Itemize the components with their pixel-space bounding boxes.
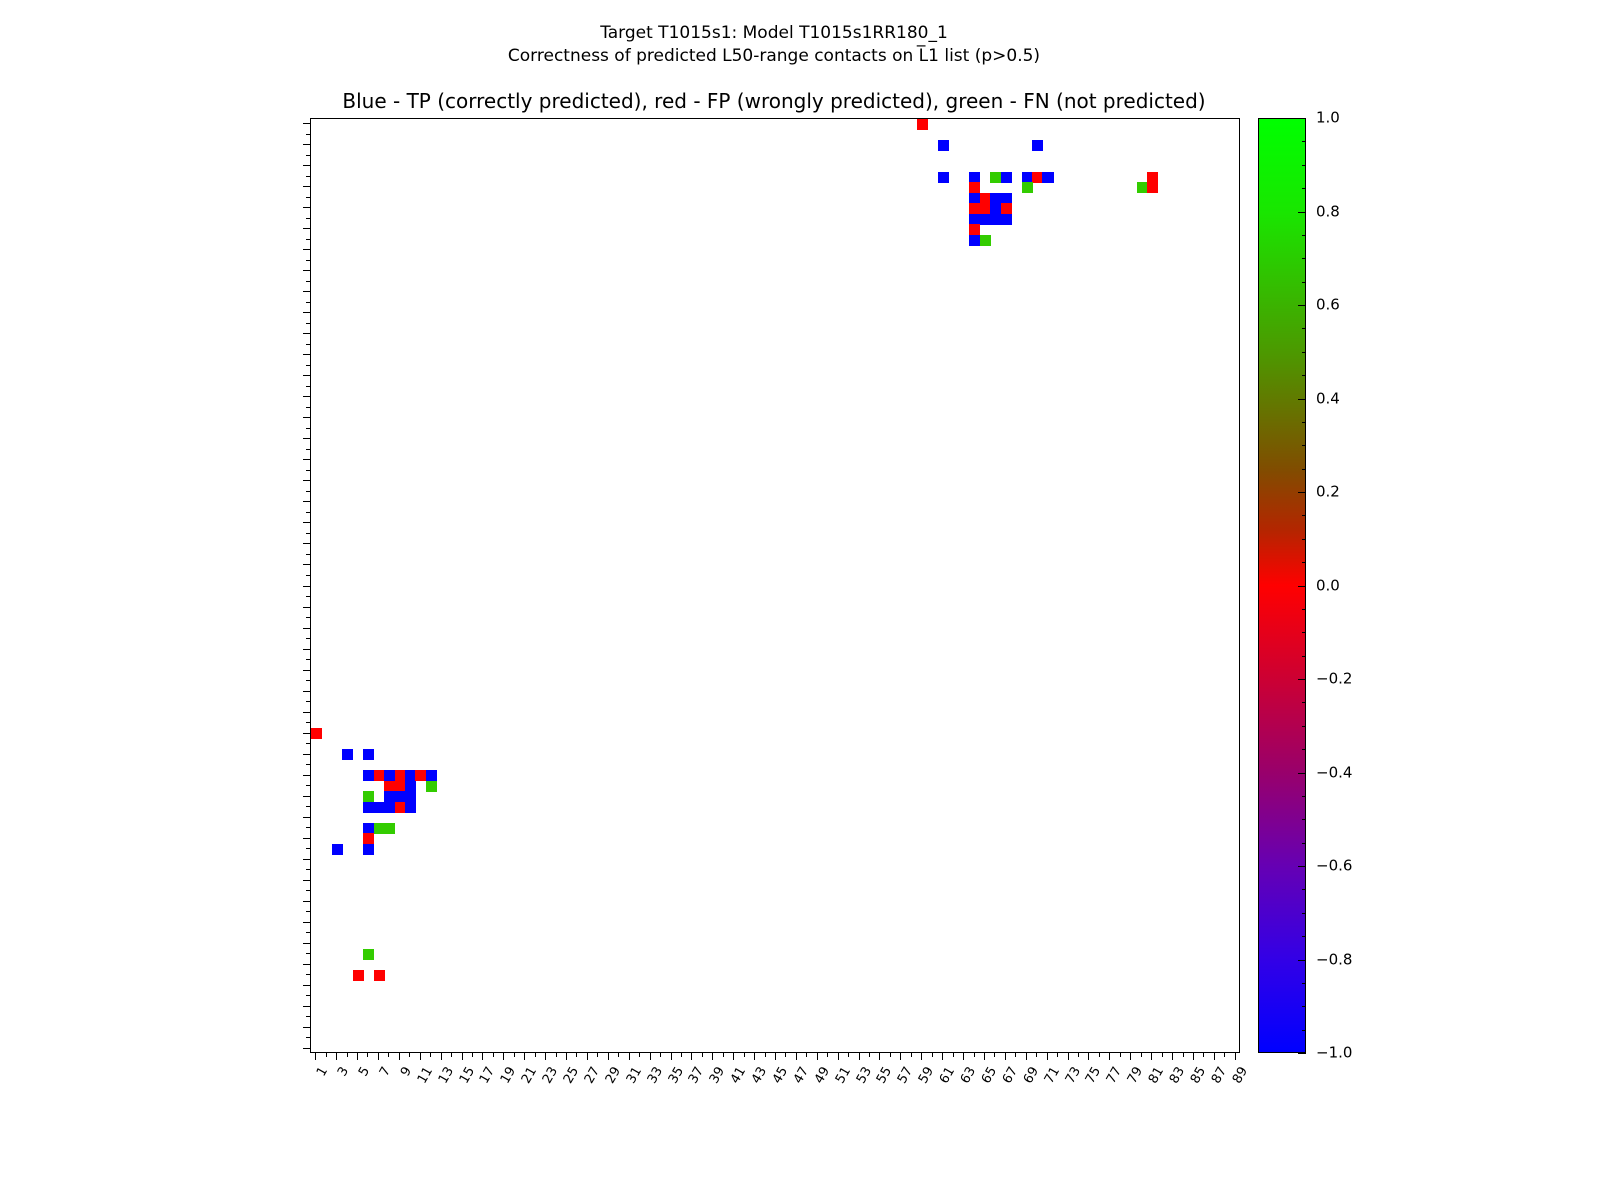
colorbar-minor-tick [1302,609,1306,610]
x-tick-label: 53 [854,1065,874,1086]
x-tick-label: 51 [833,1065,853,1086]
colorbar-tick-label: −1.0 [1316,1046,1352,1061]
x-tick-label: 47 [792,1065,812,1086]
contact-cell-fp [980,193,991,204]
contact-cell-tp [342,749,353,760]
y-tick-mark [303,186,310,187]
colorbar-minor-tick [1302,165,1306,166]
x-tick-mark [514,1053,515,1057]
x-tick-label: 3 [336,1065,351,1079]
x-tick-mark [1162,1053,1163,1057]
x-tick-mark [399,1053,400,1060]
x-tick-mark [388,1053,389,1057]
y-tick-mark [303,733,310,734]
x-tick-mark [1078,1053,1079,1057]
x-tick-mark [1235,1053,1236,1060]
contact-cell-fn [1022,182,1033,193]
y-tick-mark [303,691,310,692]
y-tick-mark [303,859,310,860]
x-tick-mark [806,1053,807,1057]
x-tick-mark [932,1053,933,1057]
figure-title-line-2: Correctness of predicted L50-range conta… [0,45,1548,68]
contact-cell-tp [426,770,437,781]
contact-cell-fp [374,770,385,781]
colorbar-tick-mark [1298,118,1306,119]
contact-cell-fp [384,781,395,792]
contact-cell-fn [990,172,1001,183]
colorbar-minor-tick [1302,515,1306,516]
y-tick-mark [303,796,310,797]
contact-cell-fp [395,802,406,813]
x-tick-label: 33 [645,1065,665,1086]
colorbar-minor-tick [1302,1006,1306,1007]
colorbar-minor-tick [1302,656,1306,657]
x-tick-mark [650,1053,651,1060]
y-tick-mark [303,964,310,965]
contact-cell-tp [969,193,980,204]
y-tick-mark [303,354,310,355]
y-tick-mark [303,417,310,418]
y-tick-mark [303,1048,310,1049]
x-tick-label: 65 [980,1065,1000,1086]
x-tick-mark [681,1053,682,1057]
x-axis: 1357911131517192123252729313335373941434… [310,1053,1240,1193]
colorbar-minor-tick [1302,889,1306,890]
contact-cell-tp [363,844,374,855]
contact-cell-tp [1001,214,1012,225]
x-tick-label: 49 [813,1065,833,1086]
x-tick-label: 57 [896,1065,916,1086]
contact-cell-tp [1001,172,1012,183]
contact-cell-fp [969,182,980,193]
x-tick-mark [869,1053,870,1057]
colorbar-minor-tick [1302,632,1306,633]
colorbar-minor-tick [1302,235,1306,236]
x-tick-label: 89 [1230,1065,1250,1086]
x-tick-label: 13 [436,1065,456,1086]
x-tick-mark [1120,1053,1121,1057]
x-tick-mark [994,1053,995,1057]
contact-cell-fn [363,791,374,802]
colorbar-minor-tick [1302,539,1306,540]
x-tick-mark [775,1053,776,1060]
y-tick-mark [303,165,310,166]
y-tick-mark [303,543,310,544]
x-tick-mark [1203,1053,1204,1057]
y-tick-mark [303,943,310,944]
x-tick-label: 73 [1063,1065,1083,1086]
x-tick-label: 79 [1126,1065,1146,1086]
x-tick-label: 9 [399,1065,414,1079]
y-tick-mark [303,817,310,818]
colorbar-minor-tick [1302,445,1306,446]
colorbar-tick-mark [1298,866,1306,867]
x-tick-label: 45 [771,1065,791,1086]
contact-cell-fp [395,781,406,792]
contact-cell-fp [395,770,406,781]
x-tick-mark [671,1053,672,1060]
colorbar-minor-tick [1302,819,1306,820]
colorbar-tick-mark [1298,1053,1306,1054]
x-tick-mark [639,1053,640,1057]
x-tick-mark [462,1053,463,1060]
contact-cell-fn [384,823,395,834]
x-tick-label: 55 [875,1065,895,1086]
contact-cell-tp [1001,193,1012,204]
contact-cell-tp [969,172,980,183]
y-tick-mark [303,375,310,376]
contact-cell-fn [374,823,385,834]
contact-cell-tp [990,214,1001,225]
y-axis: 1357911131517192123252729313335373941434… [0,118,310,1053]
x-tick-mark [1141,1053,1142,1057]
colorbar-minor-tick [1302,843,1306,844]
contact-cell-tp [405,770,416,781]
contact-cell-tp [990,203,1001,214]
x-tick-label: 81 [1147,1065,1167,1086]
contact-cell-tp [969,235,980,246]
x-tick-mark [503,1053,504,1060]
colorbar-minor-tick [1302,1030,1306,1031]
x-tick-label: 5 [357,1065,372,1079]
contact-cell-fp [1147,172,1158,183]
contact-cell-tp [405,802,416,813]
figure-title-line-1: Target T1015s1: Model T1015s1RR180_1 [0,22,1548,45]
y-tick-mark [303,1006,310,1007]
y-tick-mark [303,291,310,292]
x-tick-mark [493,1053,494,1057]
y-tick-mark [303,207,310,208]
y-tick-mark [303,607,310,608]
contact-cell-fp [363,833,374,844]
x-tick-label: 59 [917,1065,937,1086]
x-tick-mark [378,1053,379,1060]
colorbar-tick-label: 1.0 [1316,111,1340,126]
y-tick-mark [303,586,310,587]
x-tick-mark [336,1053,337,1060]
contact-cell-fp [980,203,991,214]
x-tick-mark [1183,1053,1184,1057]
x-tick-mark [744,1053,745,1057]
contact-cell-tp [1022,172,1033,183]
y-tick-mark [303,312,310,313]
colorbar-minor-tick [1302,258,1306,259]
contact-cell-fp [374,970,385,981]
colorbar-minor-tick [1302,422,1306,423]
x-tick-mark [576,1053,577,1057]
y-tick-mark [303,144,310,145]
x-tick-mark [921,1053,922,1060]
contact-cell-tp [363,802,374,813]
colorbar-tick-mark [1298,960,1306,961]
x-tick-label: 41 [729,1065,749,1086]
contact-cell-fp [311,728,322,739]
x-tick-mark [1130,1053,1131,1060]
contact-cell-fp [1147,182,1158,193]
y-tick-mark [303,333,310,334]
x-tick-mark [1057,1053,1058,1057]
x-tick-mark [1088,1053,1089,1060]
colorbar-tick-label: 0.4 [1316,391,1340,406]
y-tick-mark [303,838,310,839]
x-tick-label: 61 [938,1065,958,1086]
colorbar-tick-mark [1298,492,1306,493]
x-tick-mark [1036,1053,1037,1057]
x-tick-mark [1015,1053,1016,1057]
contact-cell-tp [395,791,406,802]
x-tick-label: 29 [604,1065,624,1086]
contact-cell-tp [1042,172,1053,183]
x-tick-mark [472,1053,473,1057]
x-tick-mark [524,1053,525,1060]
colorbar-minor-tick [1302,282,1306,283]
x-tick-mark [942,1053,943,1060]
colorbar-tick-label: 0.6 [1316,298,1340,313]
contact-cell-fp [969,224,980,235]
y-tick-mark [303,459,310,460]
y-tick-mark [303,228,310,229]
contact-cell-tp [384,791,395,802]
contact-cell-tp [990,193,1001,204]
colorbar-minor-tick [1302,936,1306,937]
y-tick-mark [303,522,310,523]
contact-cell-tp [980,214,991,225]
x-tick-mark [1193,1053,1194,1060]
y-tick-mark [303,628,310,629]
x-tick-mark [420,1053,421,1060]
x-tick-label: 83 [1168,1065,1188,1086]
colorbar-tick-label: 0.2 [1316,485,1340,500]
contact-cell-tp [405,791,416,802]
x-tick-mark [315,1053,316,1060]
colorbar-tick-label: 0.0 [1316,578,1340,593]
x-tick-mark [1026,1053,1027,1060]
contact-cell-tp [969,214,980,225]
contact-cell-fp [415,770,426,781]
x-tick-mark [900,1053,901,1060]
x-tick-label: 77 [1105,1065,1125,1086]
x-tick-label: 85 [1189,1065,1209,1086]
colorbar-minor-tick [1302,141,1306,142]
x-tick-mark [441,1053,442,1060]
y-tick-mark [303,396,310,397]
colorbar-minor-tick [1302,983,1306,984]
y-tick-mark [303,480,310,481]
y-tick-mark [303,880,310,881]
contact-cell-tp [405,781,416,792]
contact-cell-tp [938,172,949,183]
x-tick-mark [754,1053,755,1060]
y-tick-mark [303,901,310,902]
y-tick-mark [303,754,310,755]
x-tick-label: 23 [541,1065,561,1086]
y-tick-mark [303,564,310,565]
x-tick-mark [451,1053,452,1057]
colorbar-tick-label: 0.8 [1316,204,1340,219]
y-tick-mark [303,249,310,250]
contact-map-plot[interactable] [310,118,1240,1053]
colorbar-minor-tick [1302,328,1306,329]
x-tick-mark [974,1053,975,1057]
x-tick-mark [1109,1053,1110,1060]
contact-cell-tp [384,770,395,781]
contact-cell-tp [363,823,374,834]
x-tick-label: 25 [562,1065,582,1086]
contact-cell-fp [353,970,364,981]
x-tick-mark [1047,1053,1048,1060]
y-tick-mark [303,501,310,502]
colorbar-minor-tick [1302,375,1306,376]
colorbar-tick-label: −0.6 [1316,859,1352,874]
x-tick-mark [566,1053,567,1060]
contact-cell-tp [938,140,949,151]
x-tick-mark [712,1053,713,1060]
y-tick-mark [303,985,310,986]
x-tick-mark [587,1053,588,1060]
x-tick-mark [953,1053,954,1057]
contact-cell-tp [363,770,374,781]
x-tick-mark [1005,1053,1006,1060]
contact-cell-tp [332,844,343,855]
x-tick-mark [1151,1053,1152,1060]
x-tick-label: 87 [1210,1065,1230,1086]
colorbar-tick-mark [1298,399,1306,400]
colorbar[interactable]: 1.00.80.60.40.20.0−0.2−0.4−0.6−0.8−1.0 [1258,118,1306,1053]
x-tick-label: 35 [666,1065,686,1086]
y-tick-mark [303,270,310,271]
colorbar-minor-tick [1302,749,1306,750]
x-tick-label: 69 [1022,1065,1042,1086]
x-tick-mark [838,1053,839,1060]
colorbar-minor-tick [1302,796,1306,797]
colorbar-minor-tick [1302,702,1306,703]
contact-cell-fn [980,235,991,246]
x-tick-mark [879,1053,880,1060]
x-tick-label: 39 [708,1065,728,1086]
x-tick-mark [597,1053,598,1057]
x-tick-label: 1 [315,1065,330,1079]
contact-cell-fp [917,119,928,130]
x-tick-mark [535,1053,536,1057]
x-tick-mark [347,1053,348,1057]
x-tick-mark [785,1053,786,1057]
colorbar-tick-label: −0.8 [1316,952,1352,967]
contact-cell-fn [363,949,374,960]
x-tick-mark [326,1053,327,1057]
y-tick-mark [303,775,310,776]
colorbar-minor-tick [1302,562,1306,563]
y-tick-mark [303,123,310,124]
x-tick-mark [984,1053,985,1060]
contact-cell-tp [374,802,385,813]
x-tick-mark [827,1053,828,1057]
x-tick-mark [733,1053,734,1060]
x-tick-label: 43 [750,1065,770,1086]
x-tick-label: 71 [1042,1065,1062,1086]
colorbar-minor-tick [1302,352,1306,353]
colorbar-tick-mark [1298,586,1306,587]
x-tick-mark [796,1053,797,1060]
x-tick-mark [357,1053,358,1060]
x-tick-mark [629,1053,630,1060]
x-tick-mark [618,1053,619,1057]
x-tick-mark [660,1053,661,1057]
x-tick-label: 75 [1084,1065,1104,1086]
contact-cell-fp [1032,172,1043,183]
x-tick-mark [545,1053,546,1060]
x-tick-mark [817,1053,818,1060]
x-tick-label: 63 [959,1065,979,1086]
x-tick-mark [1099,1053,1100,1057]
x-tick-label: 21 [520,1065,540,1086]
x-tick-mark [911,1053,912,1057]
colorbar-tick-mark [1298,212,1306,213]
x-tick-mark [691,1053,692,1060]
x-tick-mark [848,1053,849,1057]
x-tick-mark [482,1053,483,1060]
x-tick-label: 31 [624,1065,644,1086]
x-tick-label: 37 [687,1065,707,1086]
colorbar-minor-tick [1302,469,1306,470]
contact-cells-layer [311,119,1239,1052]
x-tick-mark [1068,1053,1069,1060]
y-tick-mark [303,649,310,650]
colorbar-tick-label: −0.2 [1316,672,1352,687]
y-tick-mark [303,712,310,713]
colorbar-tick-mark [1298,679,1306,680]
x-tick-mark [608,1053,609,1060]
x-tick-mark [1172,1053,1173,1060]
x-tick-mark [367,1053,368,1057]
y-tick-mark [303,1027,310,1028]
x-tick-mark [409,1053,410,1057]
contact-cell-fn [1137,182,1148,193]
contact-cell-fn [426,781,437,792]
x-tick-label: 7 [378,1065,393,1079]
x-tick-mark [723,1053,724,1057]
contact-cell-tp [363,749,374,760]
x-tick-label: 15 [457,1065,477,1086]
colorbar-minor-tick [1302,726,1306,727]
y-tick-mark [303,922,310,923]
y-tick-mark [303,438,310,439]
figure-title-block: Target T1015s1: Model T1015s1RR180_1 Cor… [0,22,1548,68]
x-tick-label: 27 [583,1065,603,1086]
x-tick-mark [702,1053,703,1057]
x-tick-label: 19 [499,1065,519,1086]
x-tick-mark [890,1053,891,1057]
colorbar-tick-mark [1298,305,1306,306]
x-tick-mark [1214,1053,1215,1060]
contact-cell-tp [384,802,395,813]
contact-cell-fp [1001,203,1012,214]
colorbar-tick-label: −0.4 [1316,765,1352,780]
x-tick-mark [765,1053,766,1057]
x-tick-mark [556,1053,557,1057]
colorbar-minor-tick [1302,913,1306,914]
colorbar-minor-tick [1302,188,1306,189]
x-tick-mark [859,1053,860,1060]
y-tick-mark [303,670,310,671]
colorbar-tick-mark [1298,773,1306,774]
x-tick-mark [430,1053,431,1057]
x-tick-label: 17 [478,1065,498,1086]
x-tick-mark [1224,1053,1225,1057]
contact-cell-tp [1032,140,1043,151]
x-tick-label: 11 [415,1065,435,1086]
x-tick-mark [963,1053,964,1060]
contact-cell-fp [969,203,980,214]
